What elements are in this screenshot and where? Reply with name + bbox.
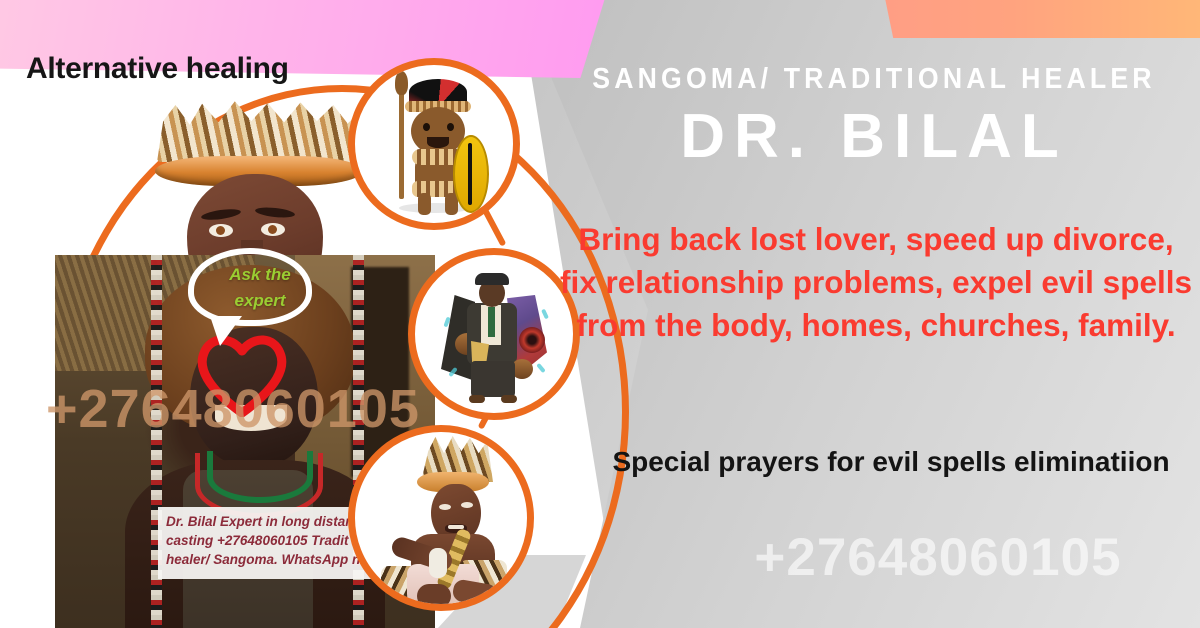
subtitle-kicker: SANGOMA/ TRADITIONAL HEALER bbox=[574, 63, 1174, 96]
bubble-tail bbox=[210, 316, 242, 346]
feather-crown-icon bbox=[157, 100, 362, 162]
ask-the-expert-bubble: Ask the expert bbox=[188, 248, 312, 326]
healer-name: DR. BILAL bbox=[548, 103, 1200, 171]
right-text-column: SANGOMA/ TRADITIONAL HEALER DR. BILAL Br… bbox=[548, 0, 1200, 628]
phone-watermark: +27648060105 bbox=[658, 527, 1200, 588]
spear-icon bbox=[399, 81, 404, 199]
chief-eye-left bbox=[209, 224, 233, 237]
special-offer-text: Special prayers for evil spells eliminat… bbox=[586, 440, 1196, 484]
bubble-label: Ask the expert bbox=[208, 262, 312, 314]
chief-eye-right bbox=[261, 223, 285, 236]
zulu-warrior-illustration bbox=[355, 65, 513, 223]
photo-watermark-phone: +27648060105 bbox=[46, 378, 420, 440]
services-text: Bring back lost lover, speed up divorce,… bbox=[556, 218, 1196, 347]
shield-icon bbox=[453, 135, 489, 213]
circle-crouching-warrior bbox=[348, 425, 534, 611]
page-title: Alternative healing bbox=[26, 52, 289, 86]
circle-zulu-warrior bbox=[348, 58, 520, 230]
poster-canvas: Ask the expert +27648060105 Dr. Bilal Ex… bbox=[0, 0, 1200, 628]
crouching-warrior-illustration bbox=[355, 432, 527, 604]
